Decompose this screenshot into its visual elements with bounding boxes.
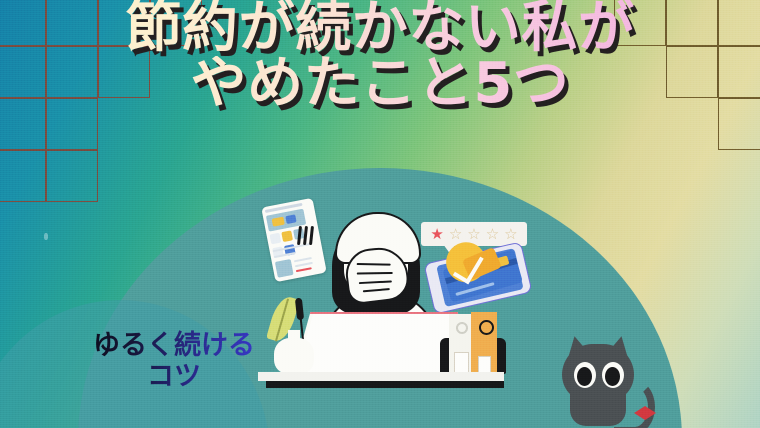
binder-ring-white bbox=[456, 322, 468, 334]
title-line-2: やめたこと5つ bbox=[0, 56, 760, 112]
thumbnail-canvas: 節約が続かない私が やめたこと5つ ゆるく続ける コツ ★☆☆☆☆ bbox=[0, 0, 760, 428]
cat-eye-right bbox=[602, 362, 624, 388]
mockup-block bbox=[270, 233, 282, 245]
speck-artifact bbox=[44, 233, 48, 240]
cat-illustration bbox=[548, 330, 652, 428]
binder-ring-orange bbox=[479, 320, 494, 335]
vase bbox=[274, 338, 314, 374]
desk-shadow bbox=[266, 381, 504, 388]
grid-cell bbox=[46, 150, 98, 202]
mockup-block bbox=[281, 230, 293, 242]
cat-eye-left bbox=[574, 362, 596, 388]
mockup-block bbox=[275, 259, 294, 278]
mockup-block bbox=[296, 267, 312, 272]
desk-surface bbox=[258, 372, 504, 381]
star-empty-icon: ☆ bbox=[504, 227, 517, 242]
tagline-line-1: ゆるく続ける bbox=[74, 330, 274, 361]
stress-marks-icon bbox=[298, 226, 318, 246]
tagline-badge: ゆるく続ける コツ bbox=[74, 330, 274, 393]
title-block: 節約が続かない私が やめたこと5つ bbox=[0, 0, 760, 112]
title-line-1: 節約が続かない私が bbox=[0, 0, 760, 56]
star-empty-icon: ☆ bbox=[467, 227, 480, 242]
star-empty-icon: ☆ bbox=[449, 227, 462, 242]
tagline-line-2: コツ bbox=[74, 361, 274, 392]
star-empty-icon: ☆ bbox=[486, 227, 499, 242]
grid-cell bbox=[0, 150, 46, 202]
